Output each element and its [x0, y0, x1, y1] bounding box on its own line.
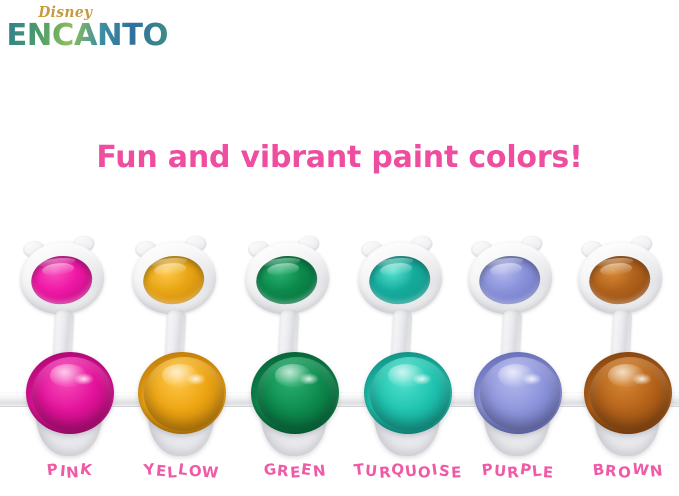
pot-specular-highlight — [412, 373, 433, 385]
headline-text: Fun and vibrant paint colors! — [0, 140, 679, 175]
lid-paint-residue — [141, 253, 207, 307]
pot-specular-highlight — [186, 373, 207, 385]
paint-pot-strip — [0, 232, 679, 464]
pot-rim — [26, 352, 114, 434]
pot-rim — [584, 352, 672, 434]
paint-pot-unit — [126, 232, 238, 464]
pot-rim — [364, 352, 452, 434]
pot-paint-fill — [144, 357, 224, 431]
lid-paint-residue — [367, 253, 433, 307]
paint-pot-unit — [239, 232, 351, 464]
product-feature-image: Disney ENCANTO Fun and vibrant paint col… — [0, 0, 679, 496]
pot-paint-fill — [370, 357, 450, 431]
pot-body — [362, 350, 454, 460]
pot-rim — [138, 352, 226, 434]
color-label-row: PINK YELLOW GREEN TURQUOISE PURPLE BROWN — [0, 462, 679, 496]
lid-paint-residue — [29, 253, 95, 307]
pot-body — [136, 350, 228, 460]
paint-pot-unit — [462, 232, 574, 464]
color-label: BROWN — [568, 462, 679, 480]
pot-rim — [474, 352, 562, 434]
encanto-wordmark: ENCANTO — [6, 19, 168, 53]
color-label: YELLOW — [122, 462, 242, 480]
pot-specular-highlight — [299, 373, 320, 385]
color-label: PINK — [10, 462, 130, 480]
pot-paint-fill — [590, 357, 670, 431]
disney-encanto-logo: Disney ENCANTO — [6, 2, 142, 56]
pot-specular-highlight — [632, 373, 653, 385]
paint-pot-unit — [572, 232, 679, 464]
pot-paint-fill — [257, 357, 337, 431]
pot-body — [582, 350, 674, 460]
pot-specular-highlight — [522, 373, 543, 385]
color-label: GREEN — [235, 462, 355, 480]
color-label: PURPLE — [458, 462, 578, 480]
pot-rim — [251, 352, 339, 434]
color-label: TURQUOISE — [348, 462, 468, 480]
paint-pot-unit — [352, 232, 464, 464]
pot-specular-highlight — [74, 373, 95, 385]
lid-paint-residue — [254, 253, 320, 307]
lid-paint-residue — [587, 253, 653, 307]
pot-body — [472, 350, 564, 460]
pot-paint-fill — [32, 357, 112, 431]
pot-body — [249, 350, 341, 460]
pot-paint-fill — [480, 357, 560, 431]
lid-paint-residue — [477, 253, 543, 307]
pot-body — [24, 350, 116, 460]
paint-pot-unit — [14, 232, 126, 464]
